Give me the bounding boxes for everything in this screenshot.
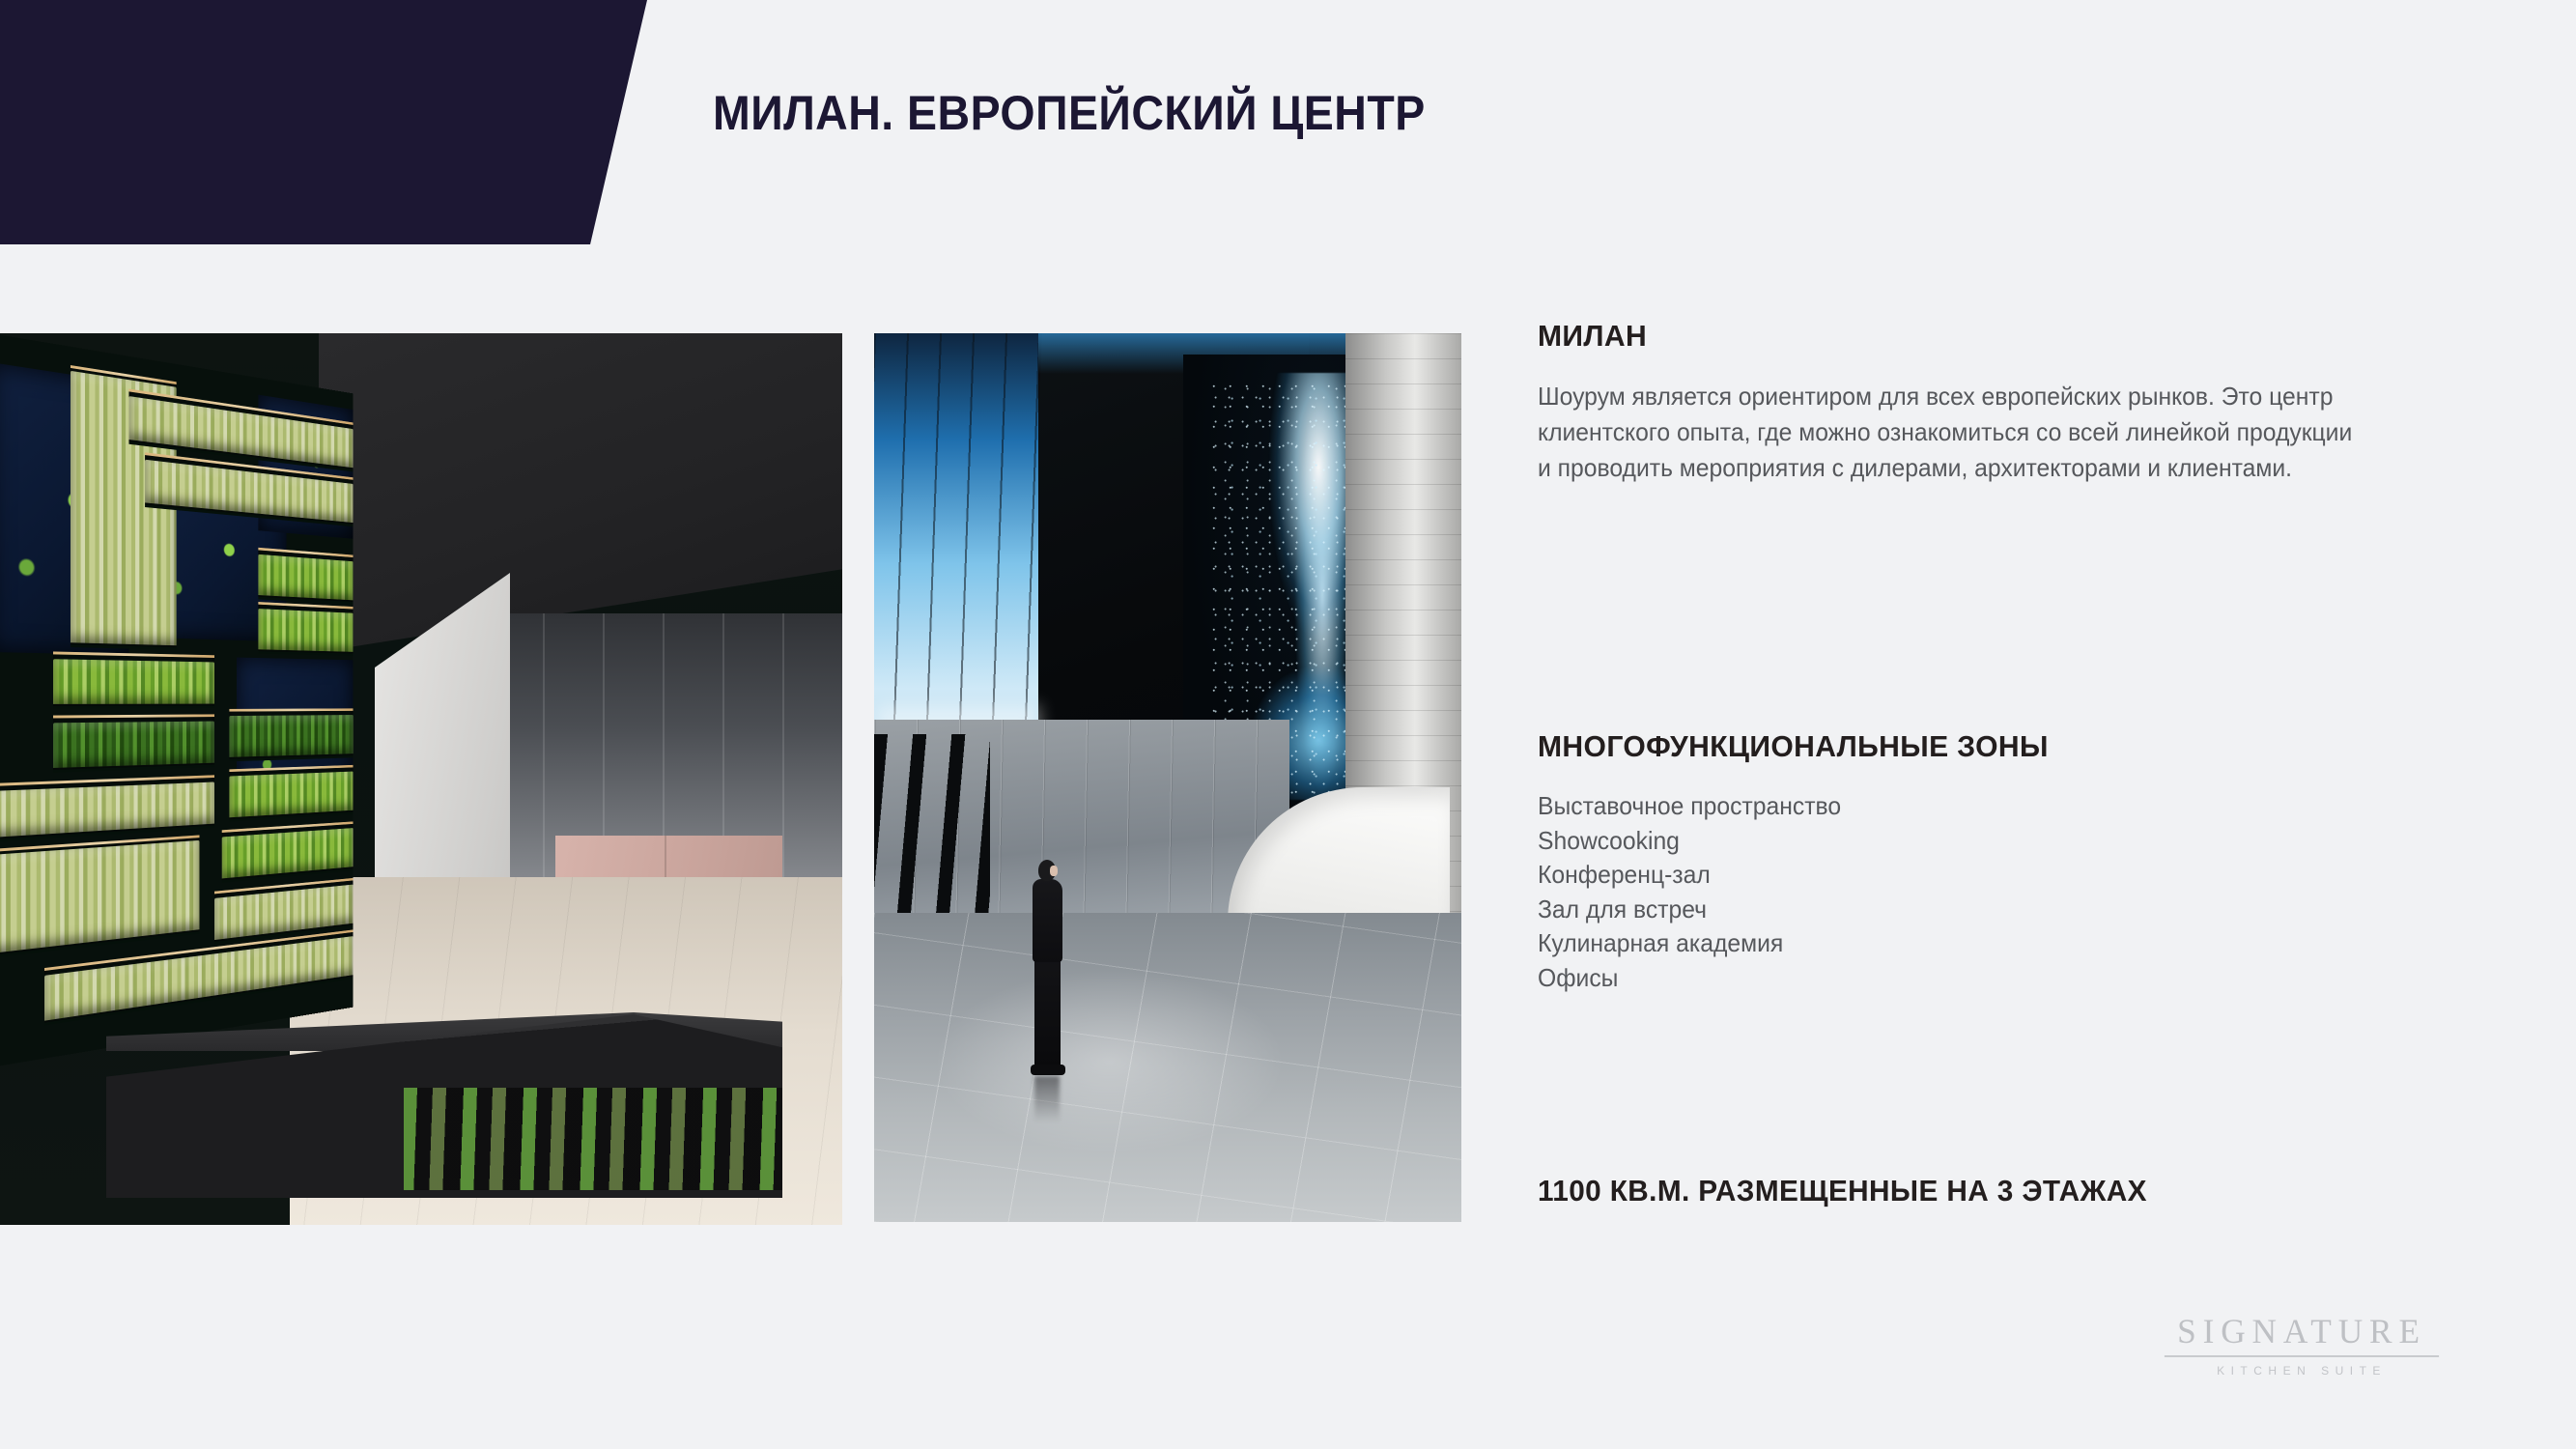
list-item: Кулинарная академия xyxy=(1538,926,2392,961)
list-item: Выставочное пространство xyxy=(1538,789,2392,824)
list-item: Showcooking xyxy=(1538,824,2392,859)
shelf-row xyxy=(229,765,353,822)
milan-heading: МИЛАН xyxy=(1538,319,2409,354)
shelf-products xyxy=(53,659,214,704)
shelf-led-strip xyxy=(229,708,353,711)
milan-section: МИЛАН Шоурум является ориентиром для все… xyxy=(1538,319,2436,486)
zones-section: МНОГОФУНКЦИОНАЛЬНЫЕ ЗОНЫ Выставочное про… xyxy=(1538,729,2436,996)
shelf-led-strip xyxy=(53,714,214,718)
shelf-products xyxy=(53,722,214,768)
list-item: Зал для встреч xyxy=(1538,893,2392,927)
shelf-products xyxy=(229,772,353,818)
visitor-legs xyxy=(1034,956,1061,1068)
shelf-row xyxy=(258,548,353,605)
shelf-row xyxy=(0,775,214,842)
shelf-led-strip xyxy=(53,651,214,657)
page-title: МИЛАН. ЕВРОПЕЙСКИЙ ЦЕНТР xyxy=(713,87,1426,140)
shelf-products xyxy=(258,554,353,601)
zones-heading: МНОГОФУНКЦИОНАЛЬНЫЕ ЗОНЫ xyxy=(1538,729,2409,764)
showroom-shelf-wall xyxy=(0,333,354,1067)
shelf-row xyxy=(229,708,353,761)
shelf-products xyxy=(0,781,214,838)
visitor-face xyxy=(1050,866,1058,876)
milan-body-text: Шоурум является ориентиром для всех евро… xyxy=(1538,379,2368,486)
photo-atrium xyxy=(874,333,1461,1222)
visitor-reflection xyxy=(1034,1076,1060,1122)
header-banner xyxy=(0,0,647,244)
shelf-row xyxy=(222,821,354,883)
zones-list: Выставочное пространство Showcooking Кон… xyxy=(1538,789,2436,996)
area-statistic: 1100 КВ.М. РАЗМЕЩЕННЫЕ НА 3 ЭТАЖАХ xyxy=(1538,1174,2147,1208)
shelf-products xyxy=(222,828,354,878)
shelf-row xyxy=(53,714,214,772)
shelf-products xyxy=(258,609,353,652)
slide-root: HOMEIER МИЛАН. ЕВРОПЕЙСКИЙ ЦЕНТР xyxy=(0,0,2576,1449)
visitor-torso xyxy=(1033,879,1062,962)
visitor-shoes xyxy=(1031,1065,1065,1075)
signature-tagline: KITCHEN SUITE xyxy=(2162,1364,2442,1378)
list-item: Офисы xyxy=(1538,961,2392,996)
shelf-row xyxy=(258,602,353,656)
atrium-stone-floor xyxy=(874,913,1461,1222)
signature-wordmark: SIGNATURE xyxy=(2165,1314,2439,1357)
shelf-row xyxy=(53,651,214,708)
signature-kitchen-suite-logo: SIGNATURE KITCHEN SUITE xyxy=(2162,1314,2442,1378)
shelf-products xyxy=(229,715,353,757)
atrium-visitor xyxy=(1027,860,1067,1082)
photo-showroom xyxy=(0,333,842,1225)
shelf-products xyxy=(0,840,199,953)
shelf-row xyxy=(0,835,199,958)
list-item: Конференц-зал xyxy=(1538,858,2392,893)
